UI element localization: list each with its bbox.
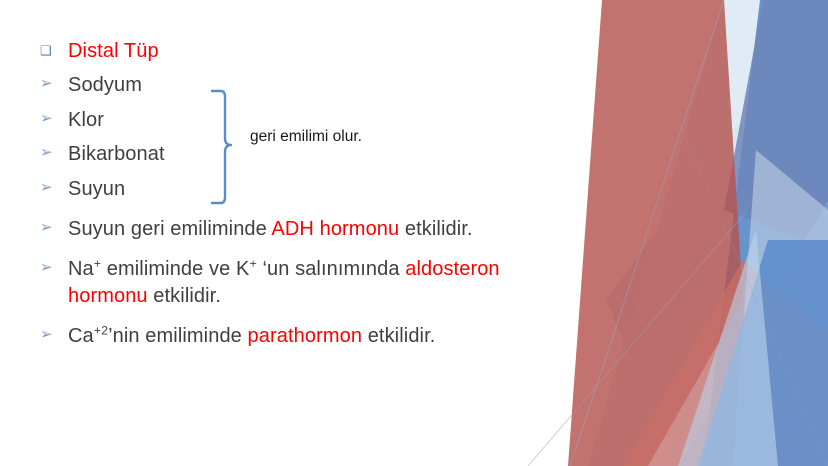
sentence-part: emiliminde ve K — [101, 258, 249, 280]
sentence-part: Ca — [68, 325, 94, 347]
arrow-bullet-icon: ➢ — [40, 323, 68, 342]
arrow-bullet-icon: ➢ — [40, 256, 68, 275]
list-item: ➢ Na+ emiliminde ve K+ ‘un salınımında a… — [40, 256, 560, 309]
arrow-bullet-icon: ➢ — [40, 72, 68, 91]
arrow-bullet-icon: ➢ — [40, 216, 68, 235]
slide-body-text: ❑ Distal Tüp ➢ Sodyum ➢ Klor ➢ Bikarbona… — [40, 38, 560, 358]
sentence-part: ’nin emiliminde — [108, 325, 247, 347]
list-item-label: Klor — [68, 107, 560, 133]
sentence-tail: etkilidir. — [148, 285, 221, 307]
sentence-tail: etkilidir. — [362, 325, 435, 347]
sentence-part: Na — [68, 258, 94, 280]
list-item-label: Distal Tüp — [68, 38, 560, 64]
arrow-bullet-icon: ➢ — [40, 141, 68, 160]
list-item-label: Suyun geri emiliminde ADH hormonu etkili… — [68, 216, 560, 242]
list-item-label: Na+ emiliminde ve K+ ‘un salınımında ald… — [68, 256, 560, 309]
superscript-charge: + — [249, 257, 256, 271]
list-item-label: Suyun — [68, 176, 560, 202]
facet-corner-graphic — [528, 0, 828, 466]
list-item: ➢ Suyun geri emiliminde ADH hormonu etki… — [40, 216, 560, 242]
sentence-part: ‘un salınımında — [257, 258, 405, 280]
arrow-bullet-icon: ➢ — [40, 107, 68, 126]
sentence-lead: Suyun geri emiliminde — [68, 218, 271, 240]
white-square-bullet-icon: ❑ — [40, 38, 68, 57]
list-item: ➢ Ca+2’nin emiliminde parathormon etkili… — [40, 323, 560, 349]
highlight-term: parathormon — [248, 325, 363, 347]
highlight-term: ADH hormonu — [271, 218, 399, 240]
list-item-label: Sodyum — [68, 72, 560, 98]
slide-canvas: geri emilimi olur. ❑ Distal Tüp ➢ Sodyum… — [0, 0, 828, 466]
list-item: ➢ Suyun — [40, 176, 560, 202]
list-item: ➢ Bikarbonat — [40, 141, 560, 167]
list-item: ➢ Klor — [40, 107, 560, 133]
list-item: ➢ Sodyum — [40, 72, 560, 98]
sentence-tail: etkilidir. — [399, 218, 472, 240]
list-item-label: Ca+2’nin emiliminde parathormon etkilidi… — [68, 323, 560, 349]
superscript-charge: +2 — [94, 323, 108, 337]
list-item: ❑ Distal Tüp — [40, 38, 560, 64]
arrow-bullet-icon: ➢ — [40, 176, 68, 195]
list-item-label: Bikarbonat — [68, 141, 560, 167]
